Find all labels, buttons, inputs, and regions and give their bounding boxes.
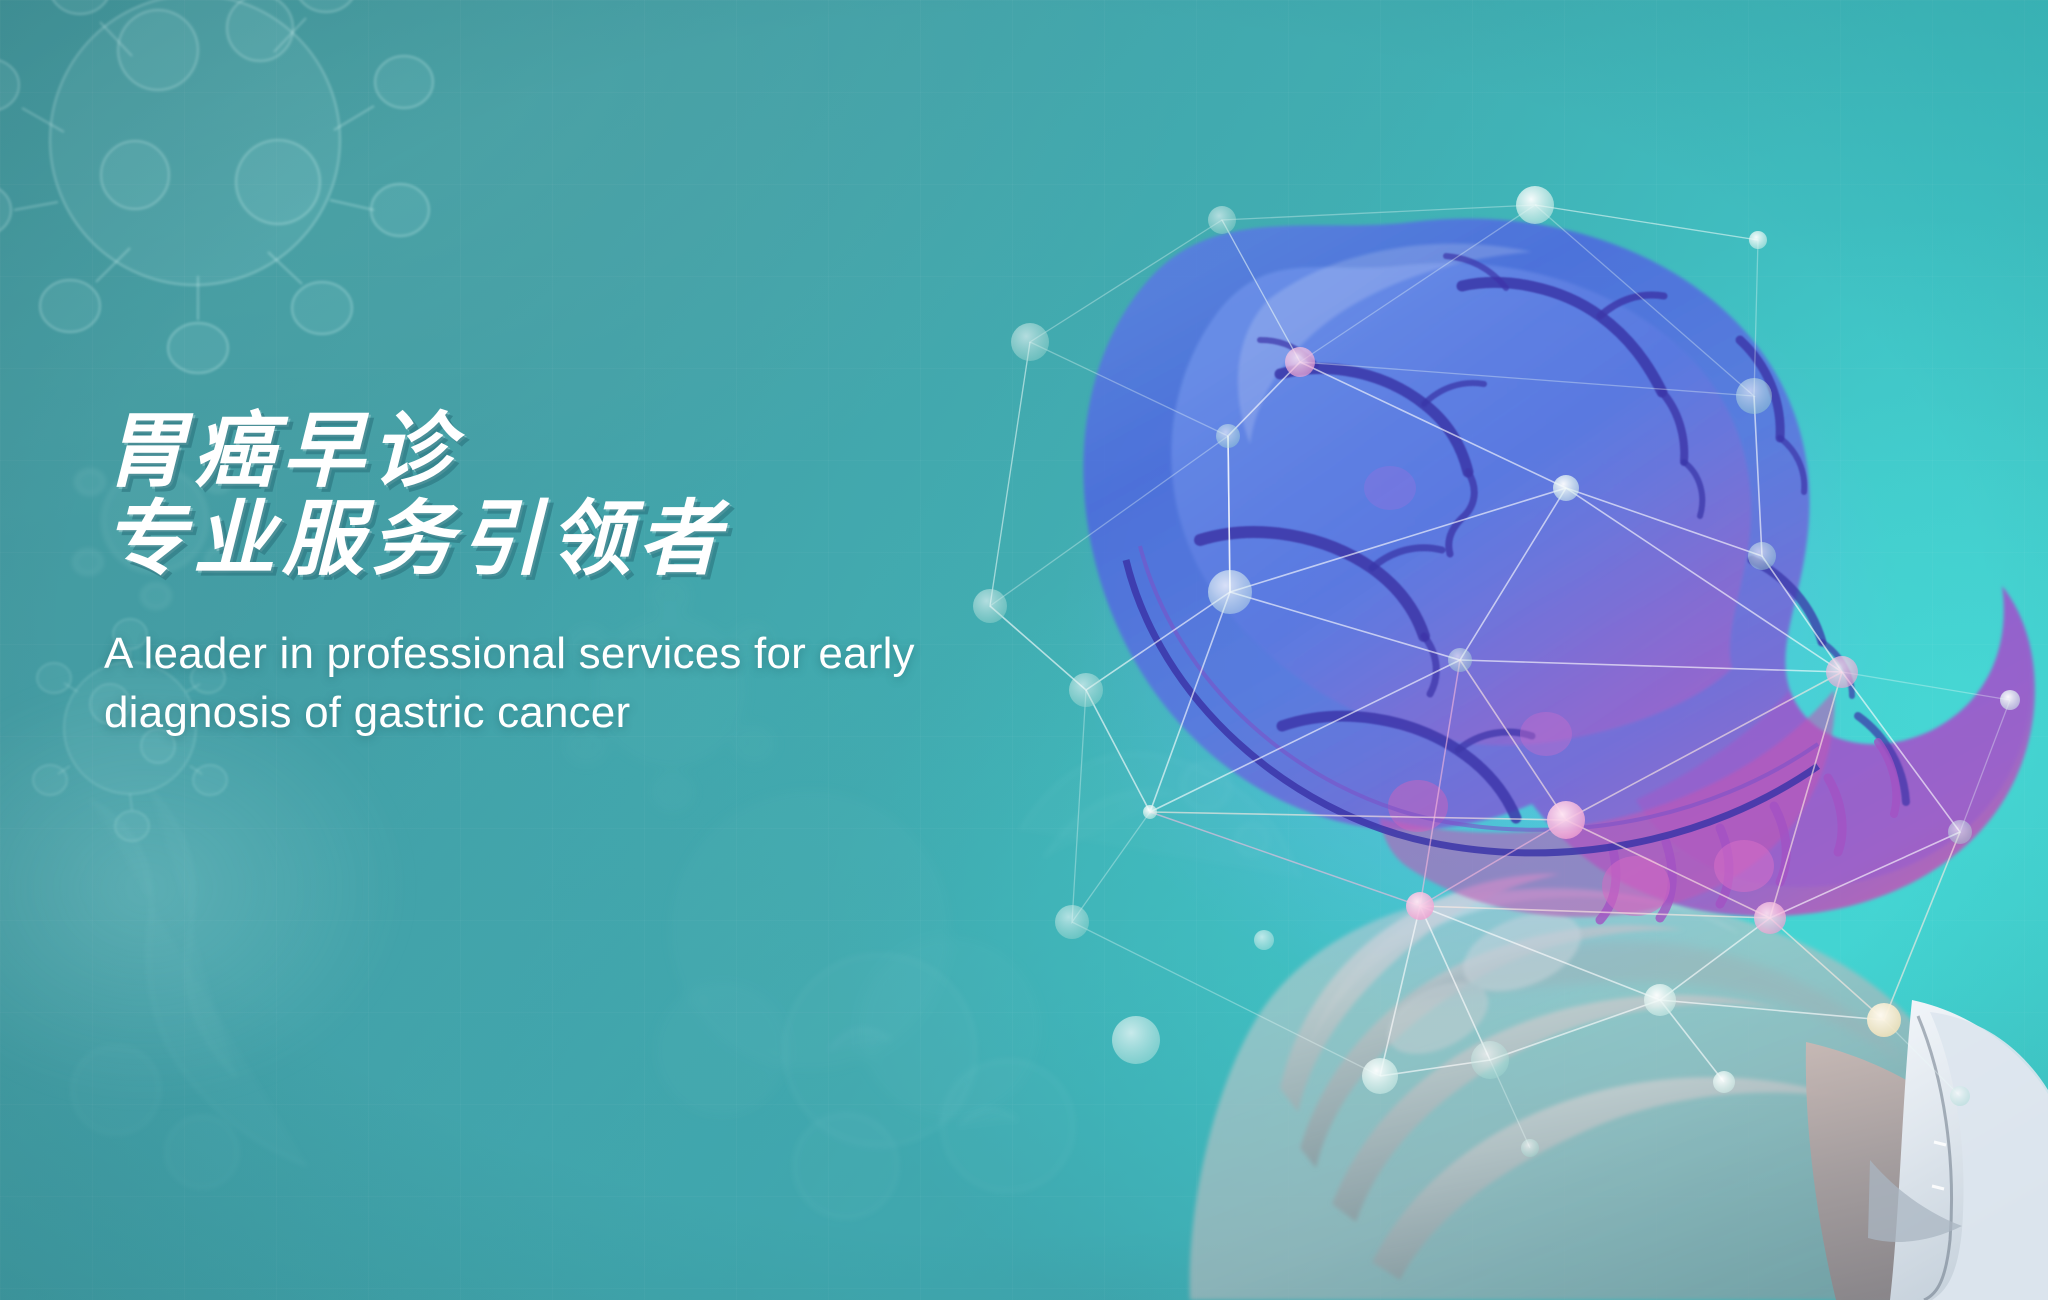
mesh-node: [1362, 1058, 1398, 1094]
mesh-node: [1644, 984, 1676, 1016]
mesh-node: [1055, 905, 1089, 939]
mesh-node: [1553, 475, 1579, 501]
headline-line-2: 专业服务引领者: [104, 496, 915, 584]
mesh-node: [1521, 1139, 1539, 1157]
mesh-node: [1254, 930, 1274, 950]
mesh-node: [1406, 892, 1434, 920]
mesh-node: [973, 589, 1007, 623]
mesh-node: [2000, 690, 2020, 710]
mesh-node: [1069, 673, 1103, 707]
subtitle: A leader in professional services for ea…: [104, 625, 915, 741]
mesh-node: [1208, 206, 1236, 234]
mesh-node: [1448, 648, 1472, 672]
mesh-node: [1950, 1086, 1970, 1106]
mesh-node: [1867, 1003, 1901, 1037]
mesh-node: [1547, 801, 1585, 839]
mesh-node: [1471, 1041, 1509, 1079]
mesh-node: [1285, 347, 1315, 377]
headline-line-1: 胃癌早诊: [104, 406, 460, 497]
page-title: 胃癌早诊 专业服务引领者: [104, 408, 915, 583]
mesh-node: [1826, 656, 1858, 688]
mesh-node: [1516, 186, 1554, 224]
subtitle-line-1: A leader in professional services for ea…: [104, 625, 915, 683]
mesh-node: [1143, 805, 1157, 819]
mesh-node: [1748, 542, 1776, 570]
mesh-node: [1948, 820, 1972, 844]
mesh-node: [1208, 570, 1252, 614]
mesh-node: [1713, 1071, 1735, 1093]
banner-root: 胃癌早诊 专业服务引领者 A leader in professional se…: [0, 0, 2048, 1300]
mesh-nodes: [973, 186, 2020, 1157]
mesh-node: [1749, 231, 1767, 249]
headline-block: 胃癌早诊 专业服务引领者 A leader in professional se…: [104, 408, 915, 742]
mesh-node: [1736, 378, 1772, 414]
subtitle-line-2: diagnosis of gastric cancer: [104, 684, 915, 742]
mesh-node: [1754, 902, 1786, 934]
mesh-node: [1011, 323, 1049, 361]
mesh-node: [1216, 424, 1240, 448]
mesh-node: [1112, 1016, 1160, 1064]
